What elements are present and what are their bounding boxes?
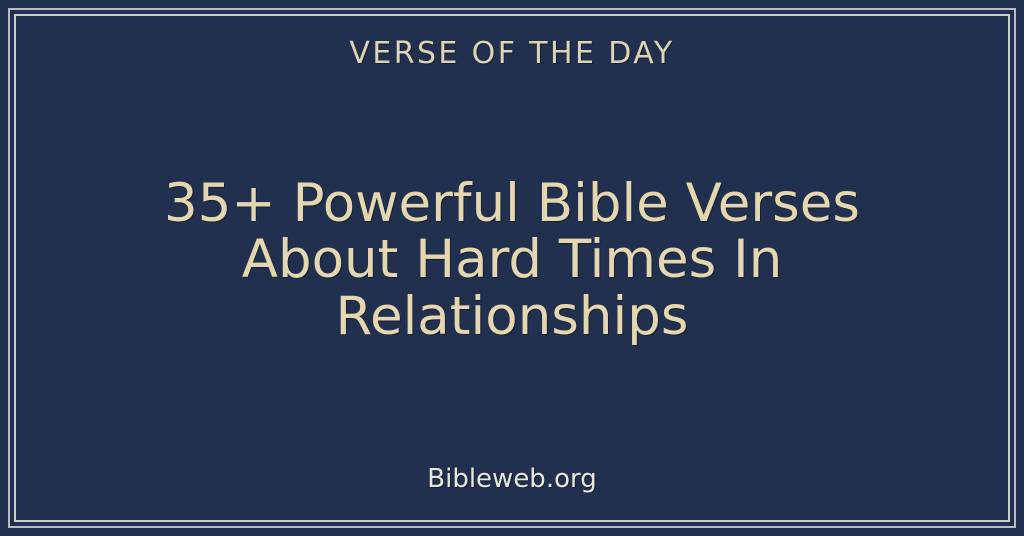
card-content: VERSE OF THE DAY 35+ Powerful Bible Vers…	[20, 20, 1004, 516]
title-block: 35+ Powerful Bible Verses About Hard Tim…	[20, 56, 1004, 465]
page-title: 35+ Powerful Bible Verses About Hard Tim…	[77, 176, 947, 346]
verse-of-the-day-card: VERSE OF THE DAY 35+ Powerful Bible Vers…	[0, 0, 1024, 536]
site-attribution: Bibleweb.org	[427, 465, 596, 494]
